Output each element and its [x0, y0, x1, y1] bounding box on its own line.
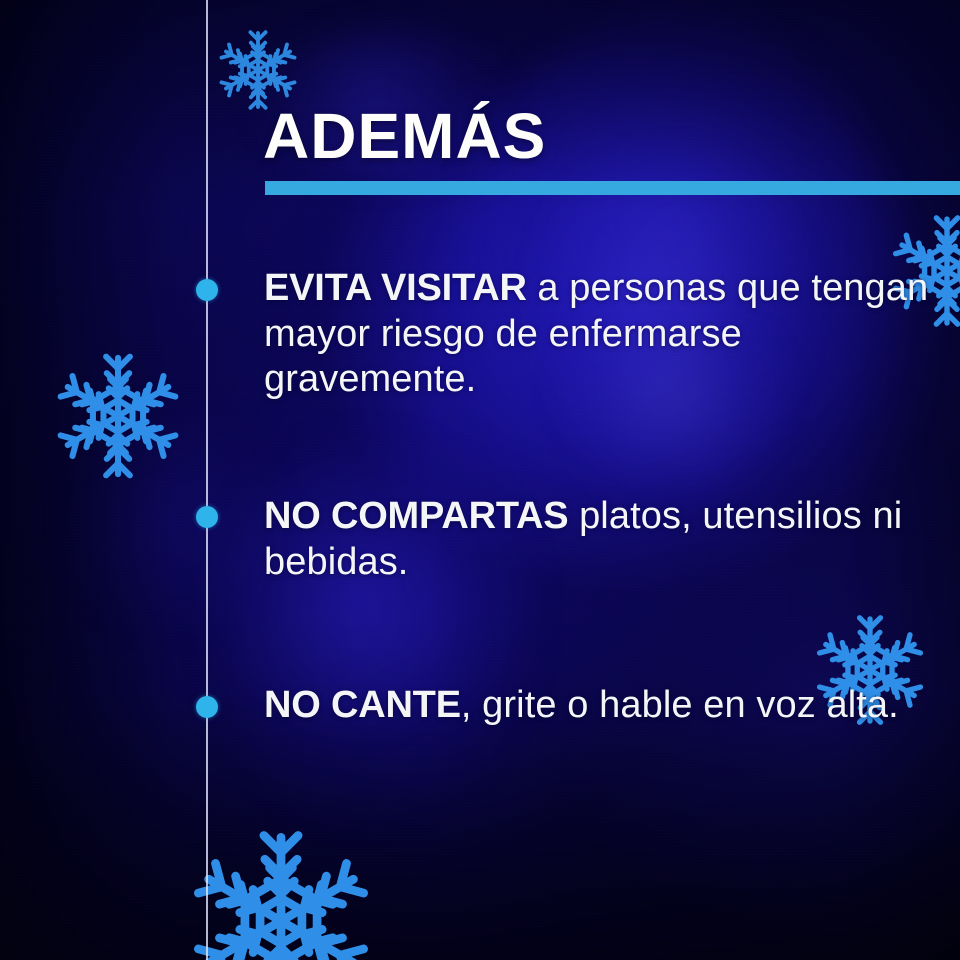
bullet-dot-no-compartas: [196, 506, 218, 528]
list-item-lead-evita-visitar: EVITA VISITAR: [264, 267, 527, 309]
list-item-evita-visitar: EVITA VISITAR a personas que tengan mayo…: [264, 266, 932, 403]
snowflake-left-middle-icon: [52, 350, 184, 482]
list-item-no-cante: NO CANTE, grite o hable en voz alta.: [264, 683, 932, 729]
page-title: ADEMÁS: [263, 104, 546, 168]
timeline-vertical-rule: [206, 0, 208, 960]
bullet-dot-no-cante: [196, 696, 218, 718]
list-item-no-compartas: NO COMPARTAS platos, utensilios ni bebid…: [264, 494, 932, 585]
snowflake-bottom-left-icon: [186, 826, 376, 960]
list-item-body-no-cante: , grite o hable en voz alta.: [461, 684, 899, 726]
bullet-dot-evita-visitar: [196, 279, 218, 301]
title-underline-bar: [265, 181, 960, 195]
poster-canvas: ADEMÁS EVITA VISITAR a personas que teng…: [0, 0, 960, 960]
list-item-lead-no-cante: NO CANTE: [264, 684, 461, 726]
list-item-lead-no-compartas: NO COMPARTAS: [264, 495, 568, 537]
